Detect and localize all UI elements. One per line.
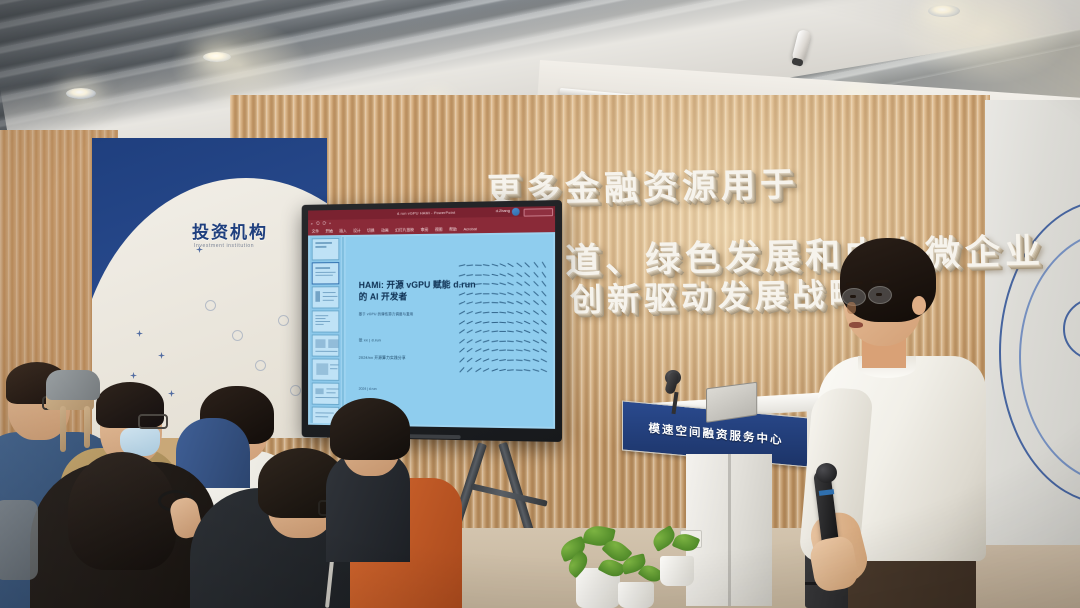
dash-mark: [491, 283, 498, 285]
dash-mark: [483, 349, 490, 353]
podium-sign-text: 模速空间融资服务中心: [649, 420, 784, 448]
presentation-room-photo: 投资机构 Investment institution 更多金融资源用于 道、绿…: [0, 0, 1080, 608]
presenter-nose: [847, 302, 856, 314]
dash-mark: [475, 349, 482, 353]
dash-mark: [459, 367, 465, 373]
dash-mark: [475, 293, 482, 295]
dash-mark: [459, 292, 466, 296]
dash-mark: [540, 339, 547, 344]
dash-mark: [499, 263, 506, 267]
powerpoint-workspace: HAMi: 开源 vGPU 赋能 d.run 的 AI 开发者 基于 vGPU …: [308, 232, 555, 429]
dash-mark: [491, 368, 498, 372]
dash-mark: [499, 292, 506, 295]
dash-mark: [499, 340, 506, 342]
presentation-display[interactable]: d.run vGPU HAMi - PowerPoint d.Zhang — ▢…: [302, 200, 562, 442]
dash-mark: [499, 302, 506, 305]
dash-mark: [541, 271, 546, 277]
dash-mark: [475, 367, 481, 372]
dash-mark: [483, 264, 490, 266]
dash-mark: [483, 302, 490, 304]
dash-mark: [483, 312, 490, 314]
dash-mark: [459, 311, 466, 315]
audience-hair: [68, 452, 176, 570]
dash-mark: [532, 359, 539, 363]
dash-mark: [507, 350, 514, 352]
dash-mark: [467, 274, 474, 276]
dash-mark: [491, 302, 498, 304]
dash-mark: [475, 358, 482, 363]
dash-mark: [516, 340, 523, 343]
dash-mark: [475, 274, 482, 276]
dash-mark: [499, 283, 506, 286]
slide-thumbnail[interactable]: [312, 358, 340, 380]
dash-mark: [475, 330, 482, 334]
dash-mark: [532, 300, 538, 305]
dash-mark: [491, 321, 498, 323]
dash-mark: [467, 367, 473, 372]
dash-mark: [532, 339, 539, 343]
dash-mark: [541, 262, 546, 269]
dash-mark: [541, 320, 547, 325]
dash-mark: [541, 291, 547, 297]
network-ring-icon: [290, 385, 301, 396]
dash-mark: [491, 359, 498, 362]
dash-mark: [467, 320, 474, 324]
dash-mark: [524, 262, 530, 268]
dash-mark: [499, 368, 506, 371]
dash-mark: [516, 291, 523, 295]
slide-thumbnail[interactable]: [312, 238, 340, 260]
dash-mark: [532, 330, 539, 335]
investor-wall-title: 投资机构: [192, 218, 268, 243]
dash-mark: [459, 339, 465, 344]
decorative-dash-field: [459, 264, 552, 384]
dash-mark: [507, 360, 514, 362]
stool-leg: [84, 406, 90, 448]
chair-backrest: [46, 370, 100, 400]
investor-wall-subtitle: Investment institution: [194, 243, 254, 249]
stool-leg: [60, 406, 66, 452]
audience-hair: [330, 398, 410, 460]
dash-mark: [516, 369, 523, 371]
dash-mark: [533, 281, 539, 287]
dash-mark: [524, 349, 531, 352]
dash-mark: [540, 349, 547, 354]
dash-mark: [475, 283, 482, 285]
ceiling-downlight: [203, 52, 231, 62]
dash-mark: [540, 368, 547, 372]
dash-mark: [524, 272, 530, 278]
dash-mark: [475, 311, 482, 314]
dash-mark: [524, 340, 531, 344]
dash-mark: [467, 330, 474, 334]
dash-mark: [507, 311, 514, 314]
ceiling-downlight: [66, 88, 96, 99]
dash-mark: [532, 291, 538, 297]
dash-mark: [483, 368, 490, 372]
dash-mark: [516, 282, 523, 287]
dash-mark: [459, 329, 465, 334]
dash-mark: [499, 331, 506, 332]
dash-mark: [516, 350, 523, 352]
dash-mark: [499, 321, 506, 323]
dash-mark: [467, 283, 474, 286]
network-ring-icon: [255, 360, 266, 371]
dash-mark: [524, 330, 531, 334]
dash-mark: [459, 273, 466, 276]
dash-mark: [532, 310, 538, 315]
slide-body-line: 2024/xx 开源算力实践分享: [359, 355, 406, 361]
presenter-ear: [912, 296, 926, 315]
dash-mark: [541, 281, 546, 287]
dash-mark: [541, 300, 547, 306]
slide-thumbnail-pane[interactable]: [310, 236, 341, 423]
dash-mark: [507, 340, 514, 342]
dash-mark: [524, 281, 530, 286]
dash-mark: [459, 264, 466, 267]
dash-mark: [516, 311, 523, 315]
dash-mark: [475, 265, 482, 267]
display-screen[interactable]: d.run vGPU HAMi - PowerPoint d.Zhang — ▢…: [308, 206, 555, 429]
dash-mark: [524, 359, 531, 362]
dash-mark: [533, 271, 539, 277]
dash-mark: [467, 348, 473, 353]
dash-mark: [467, 265, 474, 267]
dash-mark: [507, 369, 514, 371]
presenter: [800, 238, 1000, 608]
network-ring-icon: [205, 300, 216, 311]
slide-thumbnail[interactable]: [312, 382, 340, 404]
presenter-eye: [850, 295, 856, 298]
dash-mark: [483, 321, 490, 324]
dash-mark: [508, 263, 515, 268]
dash-mark: [516, 272, 522, 277]
dash-mark: [483, 293, 490, 294]
dash-mark: [459, 283, 466, 286]
dash-mark: [516, 262, 522, 267]
dash-mark: [524, 291, 530, 296]
dash-mark: [475, 321, 482, 324]
dash-mark: [475, 339, 482, 343]
dash-mark: [459, 357, 465, 363]
dash-mark: [532, 349, 539, 353]
dash-mark: [491, 331, 498, 333]
presenter-mouth: [849, 322, 863, 328]
dash-mark: [516, 359, 523, 361]
plant-pot: [618, 582, 654, 608]
thumbnail-scrollbar[interactable]: [342, 237, 343, 423]
dash-mark: [459, 348, 465, 354]
quick-access-toolbar[interactable]: ⌕ ⟲ ⟳ ▾: [311, 221, 332, 226]
dash-mark: [524, 301, 531, 306]
slide-thumbnail[interactable]: [312, 334, 340, 356]
dash-mark: [507, 292, 514, 296]
presenter-eye: [876, 293, 882, 296]
chair: [0, 500, 38, 580]
dash-mark: [467, 358, 473, 363]
network-ring-icon: [278, 315, 289, 326]
dash-mark: [541, 329, 547, 334]
dash-mark: [491, 293, 498, 295]
slide-subtitle-text: 基于 vGPU 的弹性算力调度与复用: [359, 312, 414, 317]
dash-mark: [507, 331, 514, 333]
dash-mark: [459, 320, 465, 325]
slide-body-line: 张 xx | d.run: [359, 337, 381, 343]
dash-mark: [516, 330, 523, 333]
dash-mark: [524, 310, 531, 315]
dash-mark: [540, 358, 547, 362]
plant-pot: [660, 556, 694, 586]
dash-mark: [475, 302, 482, 305]
dash-mark: [467, 302, 474, 305]
dash-mark: [483, 274, 490, 276]
document-title: d.run vGPU HAMi - PowerPoint: [397, 209, 455, 215]
dash-mark: [524, 320, 531, 324]
dash-mark: [491, 312, 498, 313]
dash-mark: [483, 358, 490, 362]
slide-thumbnail[interactable]: [312, 286, 340, 308]
dash-mark: [459, 301, 466, 305]
dash-mark: [507, 302, 514, 305]
dash-mark: [516, 301, 523, 305]
dash-mark: [516, 321, 523, 324]
dash-mark: [491, 264, 498, 267]
dash-mark: [483, 283, 490, 285]
slide-thumbnail[interactable]: [312, 310, 340, 332]
account-name[interactable]: d.Zhang: [496, 208, 510, 213]
dash-mark: [532, 368, 539, 371]
dash-mark: [507, 282, 514, 286]
slide-thumbnail[interactable]: [312, 262, 340, 284]
dash-mark: [499, 359, 506, 361]
slide-footer-text: 2024 | d.run: [359, 387, 377, 391]
ceiling-downlight: [928, 5, 960, 17]
dash-mark: [483, 340, 490, 343]
dash-mark: [499, 312, 506, 314]
audience-glasses-icon: [138, 414, 168, 429]
dash-mark: [507, 321, 514, 324]
dash-mark: [532, 320, 539, 325]
podium-column-edge: [728, 454, 731, 606]
dash-mark: [491, 273, 498, 276]
dash-mark: [524, 369, 531, 372]
network-ring-icon: [232, 330, 243, 341]
dash-mark: [467, 311, 474, 315]
dash-mark: [499, 350, 506, 352]
dash-mark: [541, 310, 547, 316]
dash-mark: [467, 292, 474, 295]
dash-mark: [533, 262, 538, 268]
dash-mark: [483, 330, 490, 333]
dash-mark: [491, 340, 498, 342]
dash-mark: [491, 349, 498, 352]
dash-mark: [507, 272, 514, 276]
dash-mark: [467, 339, 473, 344]
dash-mark: [499, 273, 506, 277]
